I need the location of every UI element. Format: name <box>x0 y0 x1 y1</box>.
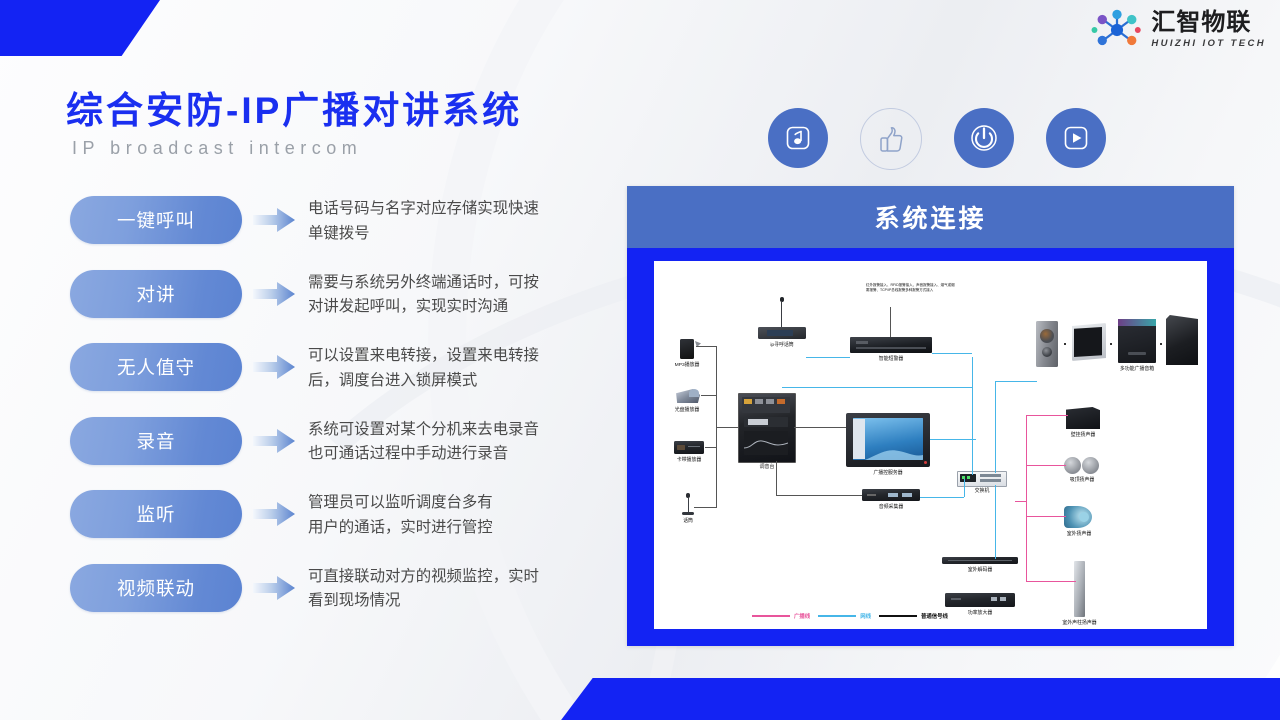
device-broadcast-server: 广播控服务器 <box>846 413 930 467</box>
legend-label-signal: 普通信号线 <box>921 612 948 620</box>
wire-src3 <box>705 447 717 448</box>
device-mixer: 调音台 <box>738 393 796 463</box>
feature-desc-line: 单键拨号 <box>308 222 630 247</box>
feature-pill-label: 视频联动 <box>117 575 195 601</box>
speaker-cabinet: 多功能广播音箱 <box>1118 319 1156 363</box>
feature-row: 监听 管理员可以监听调度台多有 用户的通话，实时进行管控 <box>70 490 630 545</box>
molecule-network-logo-icon <box>1091 8 1143 52</box>
arrow-right-icon <box>248 270 300 318</box>
diagram-legend: 广播线 网线 普通信号线 <box>752 612 948 620</box>
wire-net-collector-switch <box>920 497 964 498</box>
device-smart-alarm: 智能短警器 <box>850 337 932 353</box>
speaker-ceiling-mounted: 吸顶扬声器 <box>1064 457 1081 474</box>
wire-bc-from-amp <box>1015 501 1027 502</box>
panel-title: 系统连接 <box>874 199 986 235</box>
arrow-right-icon <box>248 196 300 244</box>
feature-desc-line: 系统可设置对某个分机来去电录音 <box>308 418 630 443</box>
feature-row: 无人值守 可以设置来电转接，设置来电转接 后，调度台进入锁屏模式 <box>70 343 630 398</box>
speaker-wall-mounted: 壁挂扬声器 <box>1066 407 1100 429</box>
device-power-amplifier: 功率放大器 <box>945 593 1015 607</box>
top-left-accent-shape <box>0 0 160 56</box>
thumbs-up-icon[interactable] <box>860 108 922 170</box>
feature-pill-label: 一键呼叫 <box>117 207 195 233</box>
feature-desc-line: 用户的通话，实时进行管控 <box>308 516 630 541</box>
speaker-outdoor-column: 室外声柱扬声器 <box>1074 561 1085 617</box>
feature-desc-line: 可以设置来电转接，设置来电转接 <box>308 344 630 369</box>
wire-bc-to-ceiling <box>1026 465 1066 466</box>
device-disc-player: 光盘播放器 <box>674 389 700 403</box>
feature-description: 可以设置来电转接，设置来电转接 后，调度台进入锁屏模式 <box>308 343 630 394</box>
speaker-subwoofer <box>1166 315 1198 365</box>
feature-icon-row <box>768 108 1106 170</box>
feature-desc-line: 管理员可以监听调度台多有 <box>308 491 630 516</box>
speaker-outdoor-horn: 室外扬声器 <box>1064 506 1092 528</box>
legend-swatch-network <box>818 615 856 616</box>
wire-net-to-speaker-top <box>995 381 1037 382</box>
device-paging-microphone: ip寻呼话筒 <box>758 297 806 339</box>
wire-note-to-alarm <box>890 307 891 337</box>
speaker-tower-1 <box>1036 321 1058 367</box>
panel-header: 系统连接 <box>627 186 1234 248</box>
alarm-note: 红外报警接入、RFID报警接入、声音报警接入、煤气或烟雾报警、TCP/IP总线报… <box>866 283 958 294</box>
feature-pill-label: 监听 <box>136 501 175 527</box>
legend-label-network: 网线 <box>860 612 871 620</box>
wire-src2 <box>701 395 717 396</box>
company-logo: 汇智物联 HUIZHI IOT TECH <box>1091 8 1266 52</box>
feature-pill-label: 无人值守 <box>117 354 195 380</box>
feature-row: 视频联动 可直接联动对方的视频监控，实时 看到现场情况 <box>70 564 630 619</box>
system-topology-diagram: 红外报警接入、RFID报警接入、声音报警接入、煤气或烟雾报警、TCP/IP总线报… <box>654 261 1207 629</box>
bottom-right-accent-shape <box>490 678 1280 720</box>
feature-pill-intercom[interactable]: 对讲 <box>70 270 242 318</box>
dot-sep-2 <box>1110 343 1112 345</box>
legend-swatch-broadcast <box>752 615 790 616</box>
feature-pill-one-key-call[interactable]: 一键呼叫 <box>70 196 242 244</box>
play-icon[interactable] <box>1046 108 1106 168</box>
dot-sep-1 <box>1064 343 1066 345</box>
wire-bus-to-mixer <box>716 427 738 428</box>
wire-net-bus-1 <box>782 387 972 388</box>
wire-net-vert-1 <box>972 357 973 475</box>
feature-pill-monitoring[interactable]: 监听 <box>70 490 242 538</box>
wire-src4 <box>694 507 717 508</box>
feature-description: 需要与系统另外终端通话时，可按 对讲发起呼叫，实现实时沟通 <box>308 270 630 321</box>
wire-src1 <box>696 346 717 347</box>
feature-list: 一键呼叫 电话号码与名字对应存储实现快速 单键拨号 对讲 <box>70 196 630 637</box>
logo-en-text: HUIZHI IOT TECH <box>1151 39 1266 49</box>
page-subtitle: IP broadcast intercom <box>72 138 362 159</box>
feature-description: 管理员可以监听调度台多有 用户的通话，实时进行管控 <box>308 490 630 541</box>
wire-bc-to-column <box>1026 581 1076 582</box>
device-mp3-player: MP3播放器 <box>680 339 694 359</box>
speaker-flat-panel <box>1072 323 1106 361</box>
arrow-right-icon <box>248 490 300 538</box>
wire-mixer-down <box>776 461 777 495</box>
system-connection-panel: 系统连接 红外报警接入、RFID报警接入、声音报警接入、煤气或烟雾报警、TCP/… <box>627 186 1234 646</box>
page-title: 综合安防-IP广播对讲系统 <box>66 80 522 134</box>
feature-pill-label: 录音 <box>136 428 175 454</box>
wire-mixer-to-collector <box>776 495 862 496</box>
feature-pill-video-linkage[interactable]: 视频联动 <box>70 564 242 612</box>
device-audio-collector: 音频采集器 <box>862 489 920 501</box>
wire-net-mic-alarm <box>806 357 850 358</box>
legend-label-broadcast: 广播线 <box>794 612 810 620</box>
wire-net-vert-3 <box>995 381 996 473</box>
feature-pill-unattended[interactable]: 无人值守 <box>70 343 242 391</box>
feature-desc-line: 后，调度台进入锁屏模式 <box>308 369 630 394</box>
wire-bc-to-horn <box>1026 516 1066 517</box>
arrow-right-icon <box>248 343 300 391</box>
feature-desc-line: 可直接联动对方的视频监控，实时 <box>308 565 630 590</box>
feature-row: 一键呼叫 电话号码与名字对应存储实现快速 单键拨号 <box>70 196 630 251</box>
device-cassette-player: 卡带播放器 <box>674 441 704 454</box>
device-outdoor-decoder: 室外解码器 <box>942 557 1018 564</box>
wire-bc-to-wall <box>1026 415 1068 416</box>
arrow-right-icon <box>248 417 300 465</box>
wire-net-alarm-switch <box>932 353 972 354</box>
legend-swatch-signal <box>879 615 917 616</box>
feature-desc-line: 也可通话过程中手动进行录音 <box>308 442 630 467</box>
slide-canvas: 汇智物联 HUIZHI IOT TECH 综合安防-IP广播对讲系统 IP br… <box>0 0 1280 720</box>
feature-desc-line: 对讲发起呼叫，实现实时沟通 <box>308 295 630 320</box>
feature-row: 对讲 需要与系统另外终端通话时，可按 对讲发起呼叫，实现实时沟通 <box>70 270 630 325</box>
feature-desc-line: 看到现场情况 <box>308 589 630 614</box>
wire-net-to-decoder <box>995 485 996 559</box>
wire-mixer-to-server <box>794 427 846 428</box>
wire-bc-trunk <box>1026 415 1027 581</box>
feature-description: 可直接联动对方的视频监控，实时 看到现场情况 <box>308 564 630 615</box>
power-icon[interactable] <box>954 108 1014 168</box>
music-note-icon[interactable] <box>768 108 828 168</box>
feature-description: 电话号码与名字对应存储实现快速 单键拨号 <box>308 196 630 247</box>
feature-description: 系统可设置对某个分机来去电录音 也可通话过程中手动进行录音 <box>308 417 630 468</box>
logo-cn-text: 汇智物联 <box>1151 11 1266 35</box>
feature-desc-line: 电话号码与名字对应存储实现快速 <box>308 197 630 222</box>
panel-body: 红外报警接入、RFID报警接入、声音报警接入、煤气或烟雾报警、TCP/IP总线报… <box>654 261 1207 629</box>
feature-row: 录音 系统可设置对某个分机来去电录音 也可通话过程中手动进行录音 <box>70 417 630 472</box>
wire-net-vert-2 <box>964 479 965 497</box>
dot-sep-3 <box>1160 343 1162 345</box>
arrow-right-icon <box>248 564 300 612</box>
feature-desc-line: 需要与系统另外终端通话时，可按 <box>308 271 630 296</box>
feature-pill-recording[interactable]: 录音 <box>70 417 242 465</box>
feature-pill-label: 对讲 <box>136 281 175 307</box>
wire-net-server-switch <box>930 439 976 440</box>
